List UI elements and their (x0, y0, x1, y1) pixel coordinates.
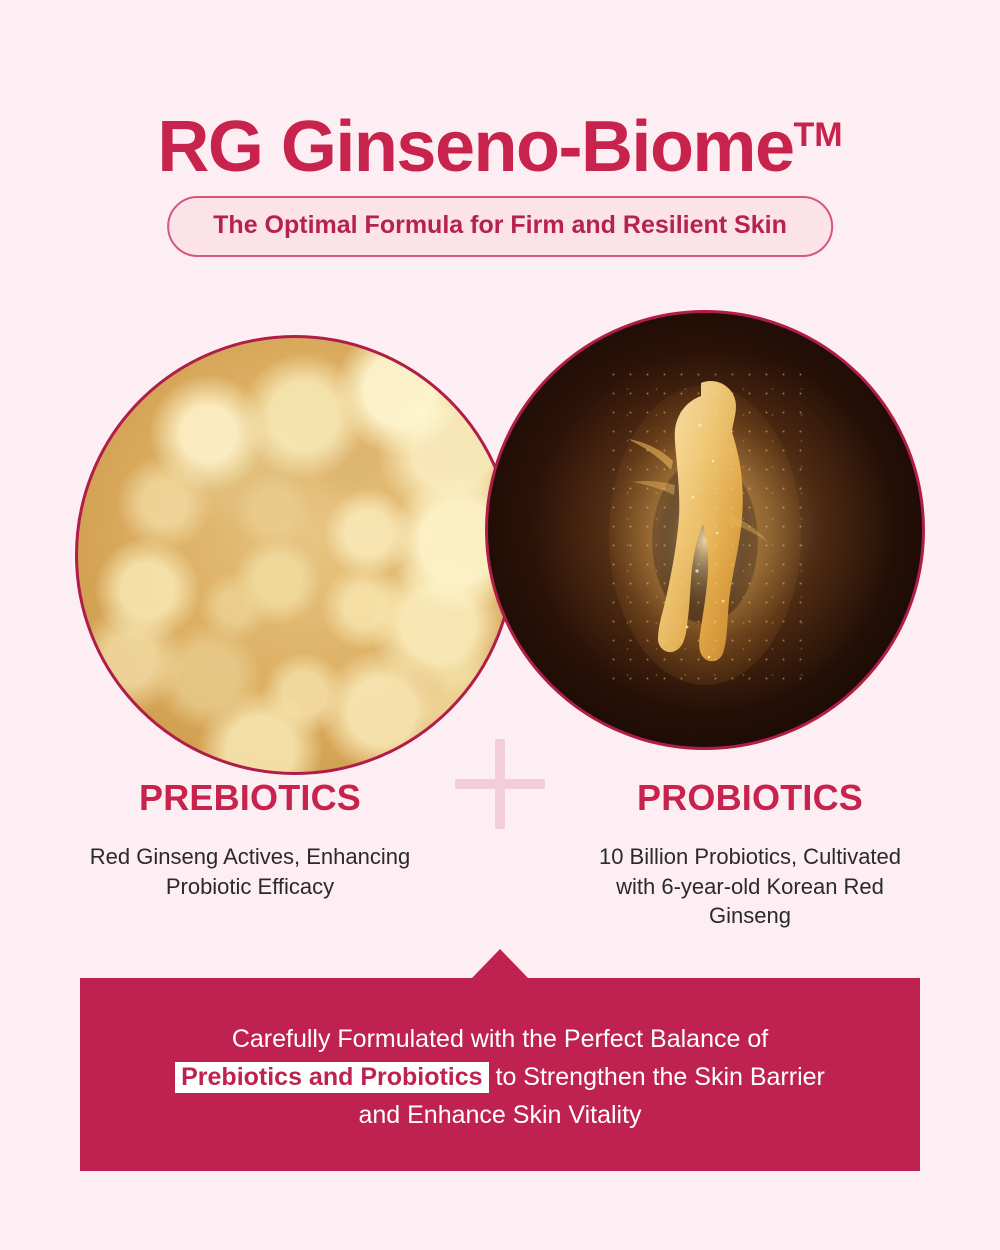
banner-line-2-rest: to Strengthen the Skin Barrier (496, 1063, 825, 1091)
column-prebiotics: PREBIOTICS Red Ginseng Actives, Enhancin… (0, 780, 500, 931)
banner-highlight: Prebiotics and Probiotics (175, 1062, 488, 1093)
promo-page: RG Ginseno-BiomeTM The Optimal Formula f… (0, 0, 1000, 1250)
probiotics-image (485, 310, 925, 750)
banner-text: Carefully Formulated with the Perfect Ba… (80, 978, 920, 1171)
banner-line-2: Prebiotics and Probiotics to Strengthen … (175, 1058, 825, 1096)
banner-line-1: Carefully Formulated with the Perfect Ba… (232, 1020, 768, 1058)
ingredient-images (0, 0, 1000, 780)
prebiotics-description: Red Ginseng Actives, Enhancing Probiotic… (85, 842, 415, 901)
prebiotics-image (75, 335, 515, 775)
banner-line-3: and Enhance Skin Vitality (358, 1096, 641, 1134)
sparkle-overlay (605, 365, 805, 695)
banner-arrow-icon (472, 949, 528, 978)
probiotics-description: 10 Billion Probiotics, Cultivated with 6… (585, 842, 915, 931)
ginseng-root-icon (605, 365, 805, 695)
summary-banner: Carefully Formulated with the Perfect Ba… (80, 978, 920, 1171)
column-probiotics: PROBIOTICS 10 Billion Probiotics, Cultiv… (500, 780, 1000, 931)
ingredient-columns: PREBIOTICS Red Ginseng Actives, Enhancin… (0, 780, 1000, 931)
probiotics-heading: PROBIOTICS (500, 780, 1000, 816)
prebiotics-heading: PREBIOTICS (0, 780, 500, 816)
